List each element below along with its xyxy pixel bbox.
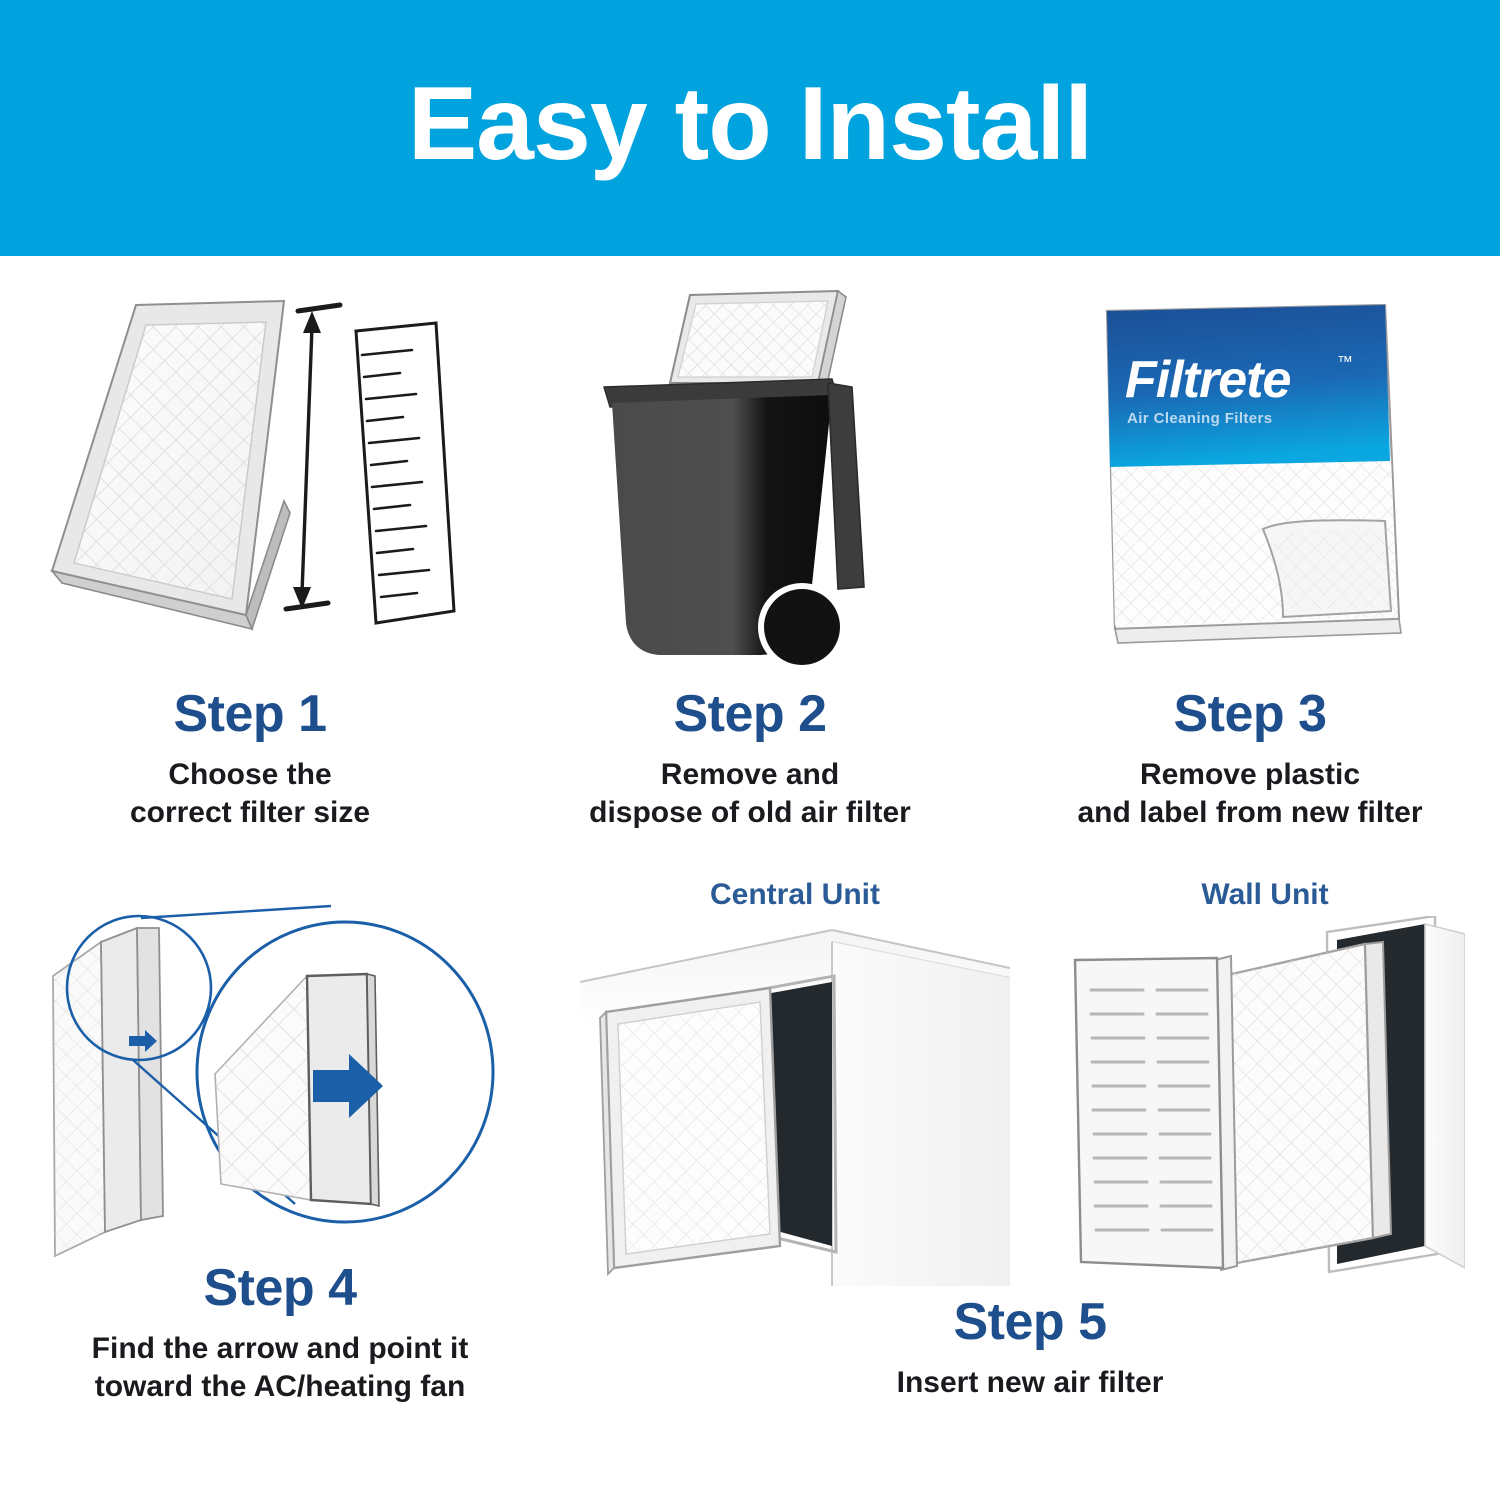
step-1-illustration	[0, 256, 500, 686]
step-4-description: Find the arrow and point it toward the A…	[92, 1330, 469, 1407]
step-2-description: Remove and dispose of old air filter	[589, 756, 911, 833]
step-2-title: Step 2	[673, 688, 826, 740]
step-card-1: Step 1 Choose the correct filter size	[0, 256, 500, 876]
package-brand-name: Filtrete	[1125, 351, 1290, 409]
step-5-caption: Step 5 Insert new air filter	[560, 1294, 1500, 1402]
unit-wall-illustration	[1030, 916, 1500, 1300]
wall-louver-grille-icon	[1065, 916, 1465, 1286]
step-4-title: Step 4	[203, 1262, 356, 1314]
package-tagline: Air Cleaning Filters	[1127, 410, 1273, 427]
page-title: Easy to Install	[408, 72, 1092, 176]
ceiling-return-vent-icon	[580, 916, 1010, 1286]
step-4-illustration	[0, 880, 560, 1260]
unit-wall-label: Wall Unit	[1201, 880, 1328, 916]
package-trademark: ™	[1337, 354, 1353, 371]
step-2-illustration	[500, 256, 1000, 686]
unit-central-label: Central Unit	[710, 880, 880, 916]
step-3-illustration: Filtrete ™ Air Cleaning Filters	[1000, 256, 1500, 686]
unit-wall: Wall Unit	[1030, 880, 1500, 1300]
step-1-description: Choose the correct filter size	[130, 756, 370, 833]
step-5-title: Step 5	[953, 1296, 1106, 1348]
step-card-5: Central Unit	[560, 880, 1500, 1500]
page-header: Easy to Install	[0, 0, 1500, 256]
step-3-description: Remove plastic and label from new filter	[1077, 756, 1422, 833]
air-filter-with-ruler-icon	[40, 281, 460, 661]
steps-row-top: Step 1 Choose the correct filter size	[0, 256, 1500, 876]
wrapped-filter-package-icon: Filtrete ™ Air Cleaning Filters	[1085, 281, 1415, 661]
step-card-2: Step 2 Remove and dispose of old air fil…	[500, 256, 1000, 876]
unit-central-illustration	[560, 916, 1030, 1300]
step-5-units: Central Unit	[560, 880, 1500, 1300]
trash-bin-with-filter-icon	[570, 271, 930, 671]
unit-central: Central Unit	[560, 880, 1030, 1300]
steps-row-bottom: Step 4 Find the arrow and point it towar…	[0, 880, 1500, 1500]
step-5-description: Insert new air filter	[897, 1364, 1164, 1402]
step-1-title: Step 1	[173, 688, 326, 740]
step-3-title: Step 3	[1173, 688, 1326, 740]
step-card-3: Filtrete ™ Air Cleaning Filters Step 3 R…	[1000, 256, 1500, 876]
filter-edge-arrow-magnifier-icon	[45, 884, 515, 1256]
step-card-4: Step 4 Find the arrow and point it towar…	[0, 880, 560, 1500]
